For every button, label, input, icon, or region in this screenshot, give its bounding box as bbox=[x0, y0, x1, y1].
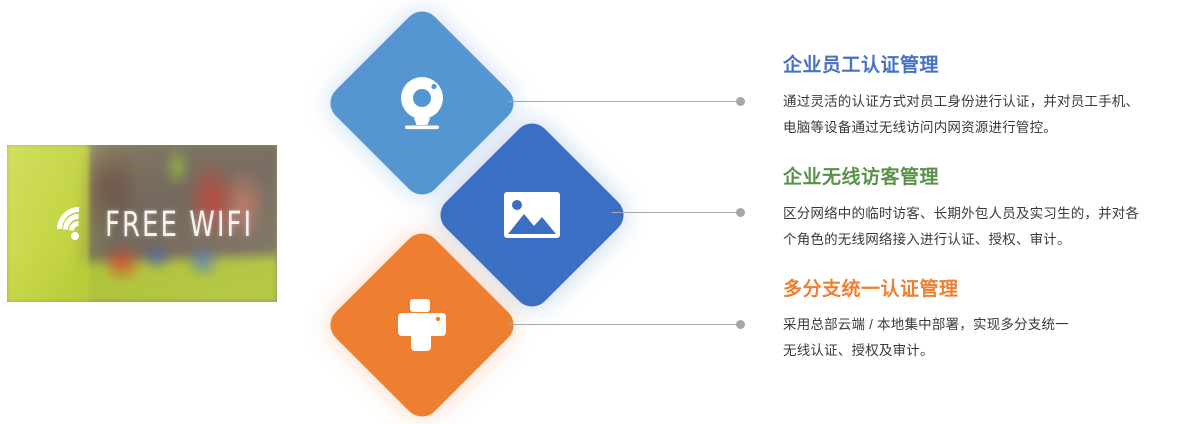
wifi-dot bbox=[71, 232, 79, 240]
connector-dot-1 bbox=[736, 97, 745, 106]
feature-title: 多分支统一认证管理 bbox=[783, 279, 1195, 302]
feature-title: 企业员工认证管理 bbox=[783, 55, 1195, 78]
feature-list: 企业员工认证管理 通过灵活的认证方式对员工身份进行认证，并对员工手机、 电脑等设… bbox=[783, 55, 1195, 364]
free-wifi-photo: FREE WIFI bbox=[7, 145, 277, 302]
feature-desc-line: 采用总部云端 / 本地集中部署，实现多分支统一 bbox=[783, 317, 1069, 332]
feature-multi-branch: 多分支统一认证管理 采用总部云端 / 本地集中部署，实现多分支统一 无线认证、授… bbox=[783, 279, 1195, 365]
feature-desc-line: 个角色的无线网络接入进行认证、授权、审计。 bbox=[783, 232, 1071, 247]
webcam-icon bbox=[395, 74, 449, 132]
feature-description: 采用总部云端 / 本地集中部署，实现多分支统一 无线认证、授权及审计。 bbox=[783, 312, 1195, 364]
feature-guest-access: 企业无线访客管理 区分网络中的临时访客、长期外包人员及实习生的，并对各 个角色的… bbox=[783, 167, 1195, 253]
feature-desc-line: 区分网络中的临时访客、长期外包人员及实习生的，并对各 bbox=[783, 206, 1139, 221]
connector-line-3 bbox=[508, 324, 737, 325]
connector-line-2 bbox=[612, 212, 737, 213]
free-wifi-label: FREE WIFI bbox=[105, 205, 253, 246]
connector-dot-3 bbox=[736, 320, 745, 329]
image-icon bbox=[504, 192, 560, 238]
feature-desc-line: 电脑等设备通过无线访问内网资源进行管控。 bbox=[783, 120, 1057, 135]
feature-description: 通过灵活的认证方式对员工身份进行认证，并对员工手机、 电脑等设备通过无线访问内网… bbox=[783, 89, 1195, 141]
feature-desc-line: 无线认证、授权及审计。 bbox=[783, 343, 934, 358]
printer-icon bbox=[396, 299, 448, 351]
feature-desc-line: 通过灵活的认证方式对员工身份进行认证，并对员工手机、 bbox=[783, 94, 1139, 109]
feature-infographic: FREE WIFI bbox=[0, 0, 1200, 418]
wifi-icon bbox=[57, 207, 97, 241]
feature-title: 企业无线访客管理 bbox=[783, 167, 1195, 190]
feature-description: 区分网络中的临时访客、长期外包人员及实习生的，并对各 个角色的无线网络接入进行认… bbox=[783, 201, 1195, 253]
feature-employee-auth: 企业员工认证管理 通过灵活的认证方式对员工身份进行认证，并对员工手机、 电脑等设… bbox=[783, 55, 1195, 141]
connector-line-1 bbox=[508, 101, 737, 102]
connector-dot-2 bbox=[736, 208, 745, 217]
